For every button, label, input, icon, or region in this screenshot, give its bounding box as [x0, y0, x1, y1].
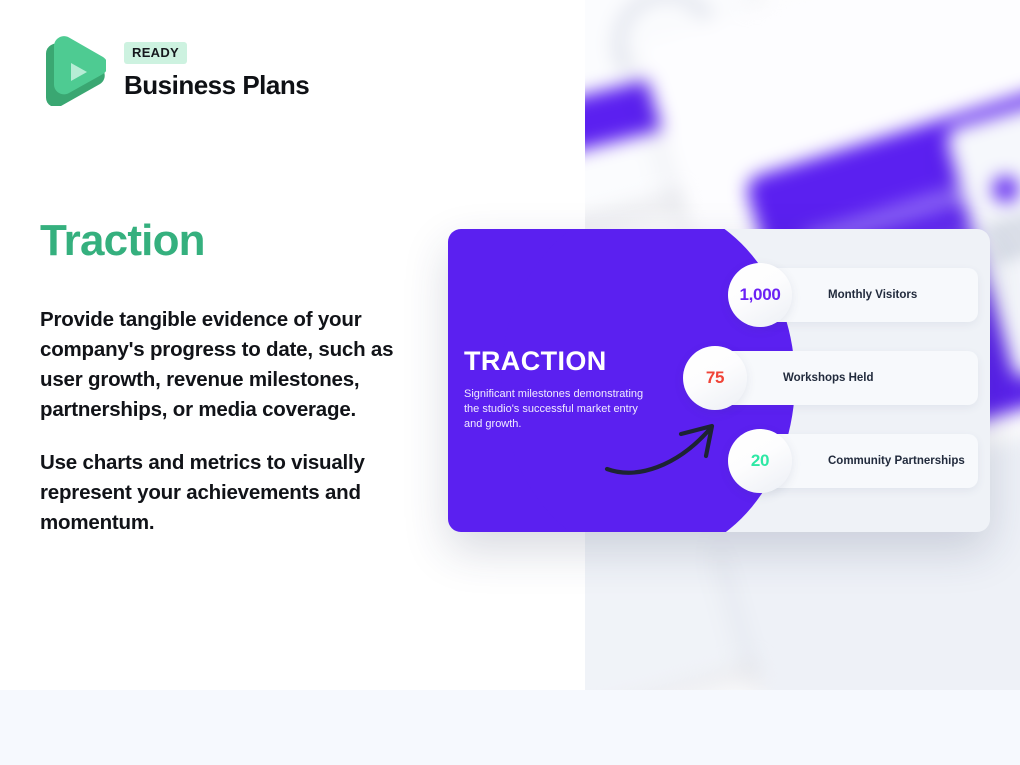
slide-page: READY Business Plans Traction Provide ta… — [0, 0, 1020, 765]
metric-pill: Monthly Visitors — [760, 268, 978, 322]
metric-value: 75 — [706, 368, 724, 388]
play-triangle-logo-icon — [40, 36, 106, 106]
metric-label: Community Partnerships — [828, 454, 965, 469]
metric-row[interactable]: Monthly Visitors 1,000 — [728, 263, 978, 327]
brand-lockup: READY Business Plans — [40, 36, 309, 106]
slide-preview-card[interactable]: TRACTION Significant milestones demonstr… — [448, 229, 990, 532]
bottom-band — [0, 690, 1020, 765]
ready-badge: READY — [124, 42, 187, 64]
metric-circle: 1,000 — [728, 263, 792, 327]
curved-arrow-up-right-icon — [603, 414, 728, 484]
metric-label: Workshops Held — [783, 371, 874, 386]
metric-pill: Community Partnerships — [760, 434, 978, 488]
metric-circle: 75 — [683, 346, 747, 410]
paragraph-1: Provide tangible evidence of your compan… — [40, 305, 420, 426]
metrics-list: Monthly Visitors 1,000 Workshops Held 75… — [728, 263, 978, 512]
metric-value: 20 — [751, 451, 769, 471]
paragraph-2: Use charts and metrics to visually repre… — [40, 448, 420, 538]
brand-text: READY Business Plans — [124, 42, 309, 101]
metric-row[interactable]: Workshops Held 75 — [683, 346, 978, 410]
page-title: Traction — [40, 216, 205, 266]
metric-row[interactable]: Community Partnerships 20 — [728, 429, 978, 493]
bg-dot-icon — [990, 173, 1020, 205]
bg-text-bar — [985, 198, 1020, 241]
body-copy: Provide tangible evidence of your compan… — [40, 305, 420, 538]
brand-name: Business Plans — [124, 70, 309, 101]
metric-circle: 20 — [728, 429, 792, 493]
metric-pill: Workshops Held — [715, 351, 978, 405]
panel-title: TRACTION — [464, 346, 664, 377]
metric-value: 1,000 — [739, 285, 780, 305]
metric-label: Monthly Visitors — [828, 288, 917, 303]
